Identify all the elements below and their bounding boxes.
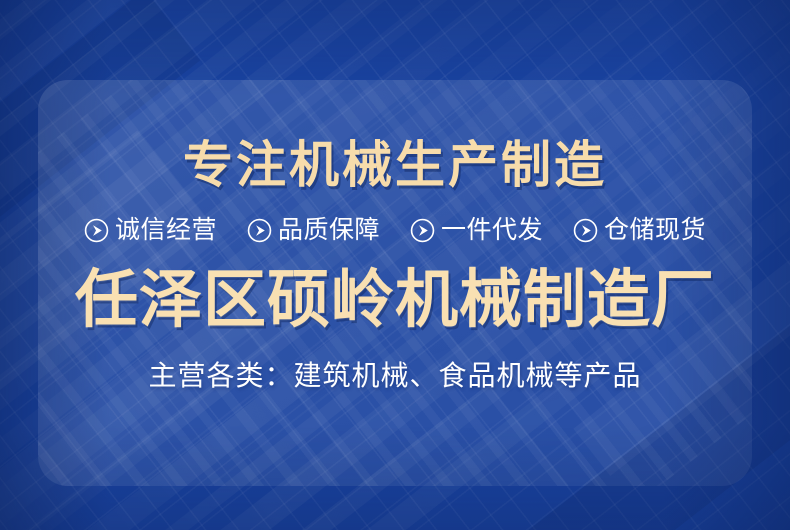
tagline: 主营各类：建筑机械、食品机械等产品 <box>148 362 641 390</box>
feature-label: 一件代发 <box>441 218 543 243</box>
arrow-right-circle-icon <box>84 218 109 243</box>
company-name: 任泽区硕岭机械制造厂 <box>75 269 715 332</box>
feature-list: 诚信经营 品质保障 一件代发 <box>84 218 706 243</box>
promo-banner: 专注机械生产制造 诚信经营 品质保障 <box>0 0 790 530</box>
arrow-right-circle-icon <box>410 218 435 243</box>
arrow-right-circle-icon <box>247 218 272 243</box>
feature-label: 诚信经营 <box>115 218 217 243</box>
banner-content: 专注机械生产制造 诚信经营 品质保障 <box>0 0 790 530</box>
feature-label: 仓储现货 <box>604 218 706 243</box>
feature-item: 仓储现货 <box>573 218 706 243</box>
arrow-right-circle-icon <box>573 218 598 243</box>
feature-item: 品质保障 <box>247 218 380 243</box>
feature-item: 一件代发 <box>410 218 543 243</box>
headline: 专注机械生产制造 <box>183 140 607 190</box>
feature-label: 品质保障 <box>278 218 380 243</box>
feature-item: 诚信经营 <box>84 218 217 243</box>
